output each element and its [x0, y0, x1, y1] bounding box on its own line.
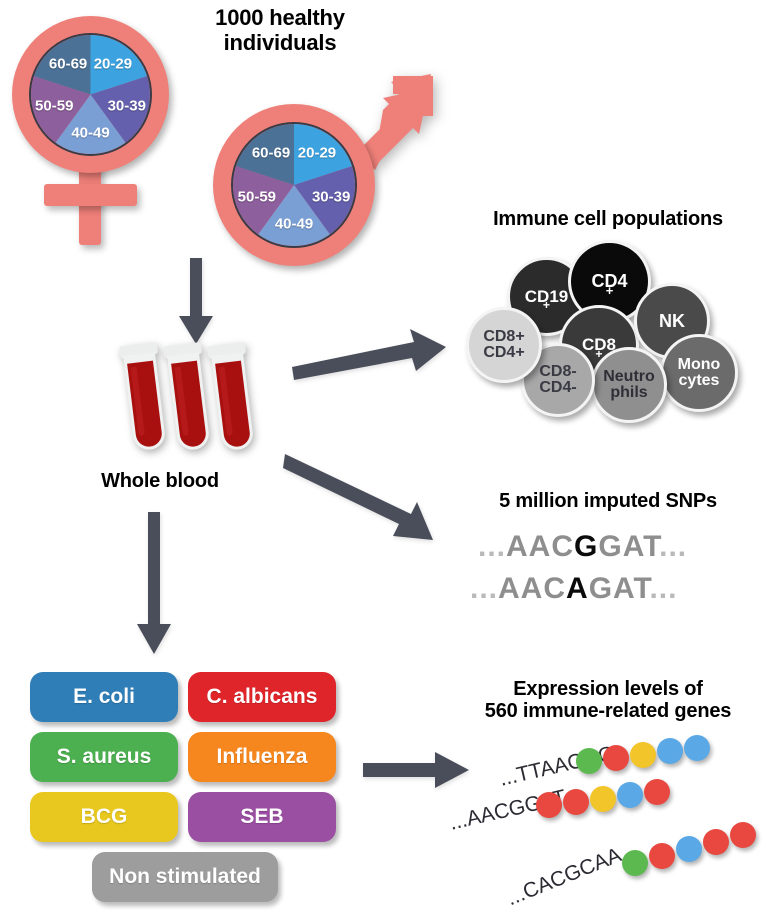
gene-strand-bead — [630, 742, 656, 768]
gene-strand-bead — [657, 738, 683, 764]
gene-strand-bead — [649, 843, 675, 869]
stimulation-pill-non-stimulated[interactable]: Non stimulated — [92, 852, 278, 902]
male-age-labels: 20-2930-3940-4950-5960-69 — [231, 122, 357, 248]
pie-slice-label-30-39: 30-39 — [312, 189, 350, 206]
immune-cell-neutro-phils: Neutrophils — [591, 347, 667, 423]
snp-variant-base: G — [574, 530, 598, 563]
pie-slice-label-60-69: 60-69 — [49, 55, 87, 72]
gene-strand-bead — [603, 745, 629, 771]
stimulation-pill-influenza[interactable]: Influenza — [188, 732, 336, 782]
stimulation-pill-s-aureus[interactable]: S. aureus — [30, 732, 178, 782]
pie-slice-label-40-49: 40-49 — [71, 124, 109, 141]
stimulation-pill-label: C. albicans — [207, 685, 318, 709]
stimulation-pill-label: SEB — [240, 805, 283, 829]
cohort-title-line-2: individuals — [180, 31, 380, 56]
immune-cell-label: CD8-CD4- — [539, 364, 576, 397]
immune-cell-cd8+-cd4+: CD8+CD4+ — [466, 307, 542, 383]
snp-sequence-row: ...AACAGAT... — [470, 572, 677, 606]
gene-strand-bead — [590, 786, 616, 812]
stimulation-pill-label: E. coli — [73, 685, 135, 709]
gene-strand-bead — [676, 836, 702, 862]
immune-cell-label: Neutrophils — [603, 369, 655, 402]
immune-cell-mono-cytes: Monocytes — [660, 334, 738, 412]
arrow-blood-to-stimulations — [131, 512, 179, 657]
whole-blood-label: Whole blood — [80, 470, 240, 492]
snp-sequence-row: ...AACGGAT... — [478, 530, 687, 564]
snp-variant-base: A — [566, 572, 589, 605]
pie-slice-label-50-59: 50-59 — [238, 189, 276, 206]
male-cohort-symbol: 20-2930-3940-4950-5960-69 — [205, 60, 435, 270]
snp-left-bases: AAC — [506, 530, 574, 563]
stimulation-pill-c-albicans[interactable]: C. albicans — [188, 672, 336, 722]
expression-title-line-1: Expression levels of — [448, 678, 768, 700]
snp-title: 5 million imputed SNPs — [448, 490, 768, 512]
snp-suffix-ellipsis: ... — [649, 572, 677, 605]
cohort-title: 1000 healthy individuals — [180, 6, 380, 55]
gene-strand-bead — [536, 792, 562, 818]
snp-left-bases: AAC — [498, 572, 566, 605]
expression-title-line-2: 560 immune-related genes — [448, 700, 768, 722]
gene-strand-bead — [644, 779, 670, 805]
gene-strand-bead — [622, 850, 648, 876]
pie-slice-label-20-29: 20-29 — [94, 55, 132, 72]
female-age-labels: 20-2930-3940-4950-5960-69 — [29, 33, 152, 156]
gene-strand-bead — [684, 735, 710, 761]
arrow-blood-to-immune-cells — [290, 325, 450, 383]
snp-prefix-ellipsis: ... — [470, 572, 498, 605]
gene-strand-diagram: ...TTAACGG...AACGGAT...CACGCAA — [440, 740, 771, 920]
snp-suffix-ellipsis: ... — [659, 530, 687, 563]
female-symbol-crossbar — [44, 184, 137, 206]
pie-slice-label-40-49: 40-49 — [275, 216, 313, 233]
stimulation-pill-seb[interactable]: SEB — [188, 792, 336, 842]
whole-blood-tubes — [108, 338, 268, 468]
snp-sequences: ...AACGGAT......AACAGAT... — [470, 530, 750, 620]
stimulation-pill-e-coli[interactable]: E. coli — [30, 672, 178, 722]
pie-slice-label-30-39: 30-39 — [108, 98, 146, 115]
female-cohort-symbol: 20-2930-3940-4950-5960-69 — [8, 10, 188, 250]
immune-cell-title: Immune cell populations — [448, 208, 768, 230]
cohort-title-line-1: 1000 healthy — [180, 6, 380, 31]
stimulation-pill-bcg[interactable]: BCG — [30, 792, 178, 842]
stimulation-pill-label: BCG — [81, 805, 128, 829]
immune-cell-label: CD8+CD4+ — [483, 329, 524, 362]
gene-strand-bead — [703, 829, 729, 855]
immune-cell-label: CD4+ — [591, 272, 627, 290]
immune-cell-label: Monocytes — [678, 357, 721, 390]
snp-right-bases: GAT — [589, 572, 650, 605]
gene-strand-bead — [563, 789, 589, 815]
pie-slice-label-20-29: 20-29 — [298, 145, 336, 162]
arrow-cohort-to-blood — [171, 258, 221, 348]
gene-strand-bead — [617, 782, 643, 808]
pie-slice-label-50-59: 50-59 — [35, 98, 73, 115]
gene-strand-bead — [576, 748, 602, 774]
expression-title: Expression levels of 560 immune-related … — [448, 678, 768, 723]
pie-slice-label-60-69: 60-69 — [252, 145, 290, 162]
gene-strand-bead — [730, 822, 756, 848]
stimulation-panel: E. coliC. albicansS. aureusInfluenzaBCGS… — [30, 672, 340, 902]
stimulation-pill-label: S. aureus — [57, 745, 152, 769]
immune-cell-label: CD19+ — [525, 288, 568, 305]
gene-strand-sequence: ...CACGCAA — [504, 843, 626, 911]
arrow-blood-to-snps — [283, 448, 453, 544]
stimulation-pill-label: Non stimulated — [109, 865, 261, 889]
snp-right-bases: GAT — [598, 530, 659, 563]
snp-prefix-ellipsis: ... — [478, 530, 506, 563]
immune-cell-label: NK — [659, 312, 685, 330]
stimulation-pill-label: Influenza — [216, 745, 307, 769]
